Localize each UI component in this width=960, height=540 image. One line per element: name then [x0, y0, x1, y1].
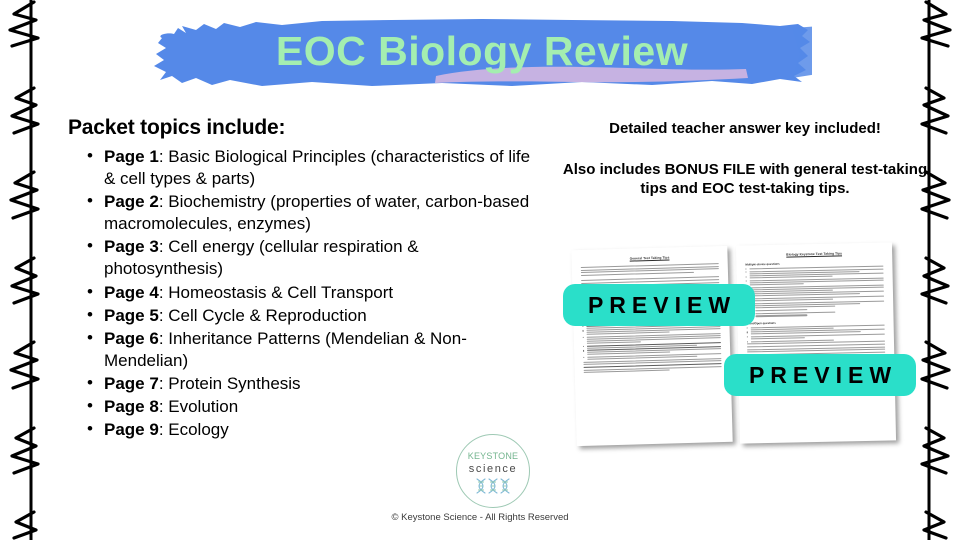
topic-text: : Inheritance Patterns (Mendelian & Non-… — [104, 329, 467, 370]
topic-page-label: Page 3 — [104, 237, 159, 256]
topic-page-label: Page 4 — [104, 283, 159, 302]
list-item: Page 5: Cell Cycle & Reproduction — [68, 305, 538, 327]
list-item: Page 6: Inheritance Patterns (Mendelian … — [68, 328, 538, 372]
document-body: Multiple-choice questions Short/Open que… — [736, 259, 894, 358]
document-paragraph — [583, 358, 721, 374]
topics-section: Packet topics include: Page 1: Basic Bio… — [68, 116, 538, 442]
list-item: Page 1: Basic Biological Principles (cha… — [68, 146, 538, 190]
document-title: Biology Keystone Test Taking Tips — [746, 251, 882, 258]
topic-page-label: Page 6 — [104, 329, 159, 348]
topic-page-label: Page 1 — [104, 147, 159, 166]
topic-text: : Biochemistry (properties of water, car… — [104, 192, 529, 233]
list-item: Page 2: Biochemistry (properties of wate… — [68, 191, 538, 235]
page-title: EOC Biology Review — [152, 16, 812, 90]
list-item: Page 9: Ecology — [68, 419, 538, 441]
topic-text: : Evolution — [159, 397, 238, 416]
topic-text: : Cell Cycle & Reproduction — [159, 306, 367, 325]
preview-badge-1: PREVIEW — [563, 284, 755, 326]
list-item: Page 7: Protein Synthesis — [68, 373, 538, 395]
topic-page-label: Page 7 — [104, 374, 159, 393]
topic-page-label: Page 2 — [104, 192, 159, 211]
document-paragraph — [581, 263, 719, 276]
bonus-file-promo: Also includes BONUS FILE with general te… — [560, 161, 930, 199]
left-doodle-border — [0, 0, 60, 540]
title-banner: EOC Biology Review — [152, 16, 812, 90]
topic-page-label: Page 5 — [104, 306, 159, 325]
topic-text: : Basic Biological Principles (character… — [104, 147, 530, 188]
topic-text: : Protein Synthesis — [159, 374, 301, 393]
logo-brand-name: keystone — [468, 448, 518, 461]
promo-section: Detailed teacher answer key included! Al… — [560, 120, 930, 198]
logo-brand-subtitle: science — [469, 464, 518, 475]
list-item: Page 8: Evolution — [68, 396, 538, 418]
topic-page-label: Page 8 — [104, 397, 159, 416]
document-title: General Test Taking Tips — [582, 254, 718, 262]
keystone-science-logo: keystone science — [456, 434, 530, 508]
dna-helix-icon — [473, 478, 513, 494]
topic-text: : Homeostasis & Cell Transport — [159, 283, 393, 302]
list-item: Page 3: Cell energy (cellular respiratio… — [68, 236, 538, 280]
packet-topics-heading: Packet topics include: — [68, 116, 538, 140]
preview-documents: General Test Taking Tips — [560, 242, 940, 462]
topics-list: Page 1: Basic Biological Principles (cha… — [68, 146, 538, 441]
preview-badge-2: PREVIEW — [724, 354, 916, 396]
list-item: Page 4: Homeostasis & Cell Transport — [68, 282, 538, 304]
preview-document-page-2: Biology Keystone Test Taking Tips Multip… — [736, 242, 896, 443]
preview-document-page-1: General Test Taking Tips — [571, 246, 732, 446]
topic-page-label: Page 9 — [104, 420, 159, 439]
copyright-footer: © Keystone Science - All Rights Reserved — [0, 512, 960, 523]
slide-canvas: EOC Biology Review Packet topics include… — [0, 0, 960, 540]
answer-key-promo: Detailed teacher answer key included! — [560, 120, 930, 139]
topic-text: : Ecology — [159, 420, 229, 439]
